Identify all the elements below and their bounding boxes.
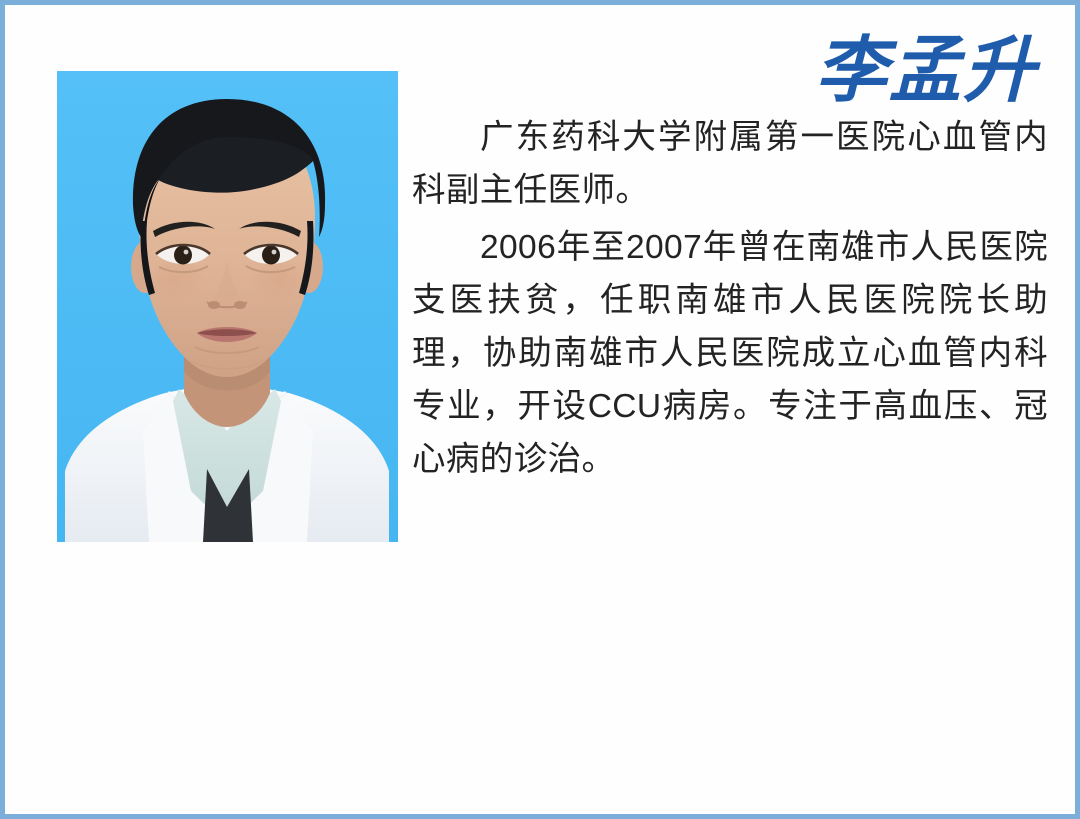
bio-paragraph-title: 广东药科大学附属第一医院心血管内科副主任医师。 (412, 111, 1048, 217)
doctor-bio: 广东药科大学附属第一医院心血管内科副主任医师。 2006年至2007年曾在南雄市… (412, 111, 1048, 486)
doctor-name-signature: 李孟升 (801, 23, 1051, 115)
signature-name-text: 李孟升 (815, 27, 1041, 112)
signature-glyphs: 李孟升 (801, 23, 1051, 115)
bio-paragraph-experience: 2006年至2007年曾在南雄市人民医院支医扶贫，任职南雄市人民医院院长助理，协… (412, 221, 1048, 486)
doctor-portrait-photo (57, 71, 398, 542)
doctor-profile-card: 李孟升 广东药科大学附属第一医院心血管内科副主任医师。 2006年至2007年曾… (0, 0, 1080, 819)
portrait-illustration (57, 71, 398, 542)
